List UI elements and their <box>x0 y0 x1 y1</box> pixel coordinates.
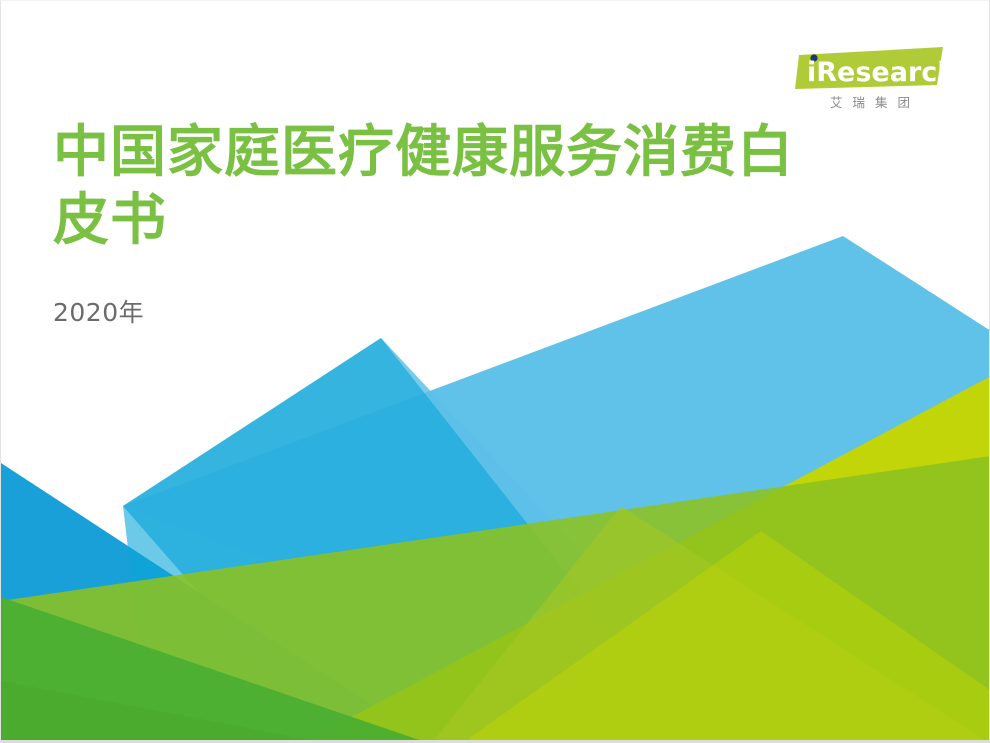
title-block: 中国家庭医疗健康服务消费白 皮书 2020年 <box>53 119 853 329</box>
report-cover-slide: iResearch 艾瑞集团 中国家庭医疗健康服务消费白 皮书 2020年 <box>0 0 990 743</box>
shape-grass-green-block <box>1 597 431 743</box>
logo-wordmark-text: iResearch <box>807 57 945 88</box>
iresearch-wordmark-badge: iResearch <box>795 45 945 89</box>
shape-olive-diagonal <box>431 506 990 743</box>
shape-blue-overlap-wedge <box>123 338 701 743</box>
cover-artwork <box>1 1 990 743</box>
shape-mid-green-band <box>1 456 990 743</box>
shape-left-blue-mountain <box>1 463 431 743</box>
shape-lime-green-field <box>301 376 990 743</box>
logo-badge-icon: iResearch <box>795 45 945 91</box>
iresearch-logo: iResearch 艾瑞集团 <box>795 45 945 110</box>
page-title: 中国家庭医疗健康服务消费白 皮书 <box>53 119 853 255</box>
publication-year: 2020年 <box>53 293 853 329</box>
shape-center-blue-peak <box>123 338 761 743</box>
logo-subtitle: 艾瑞集团 <box>795 95 945 110</box>
shape-light-green-triangle <box>461 531 990 743</box>
shape-green-sliver <box>1 681 331 743</box>
